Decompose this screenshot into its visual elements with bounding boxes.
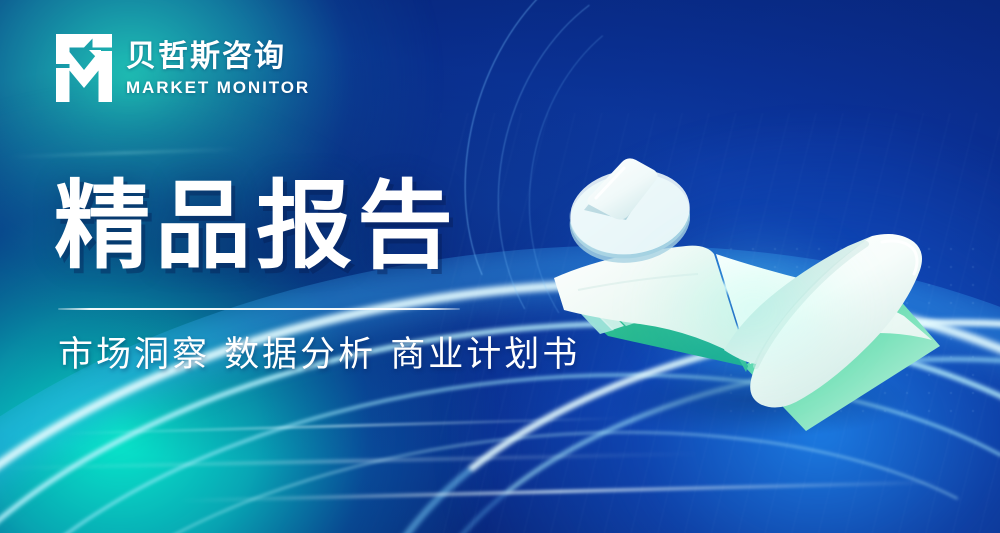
open-book-illustration [548, 150, 948, 440]
banner-subline: 市场洞察 数据分析 商业计划书 [58, 332, 580, 379]
brand-name-cn: 贝哲斯咨询 [126, 40, 310, 74]
market-monitor-logo-icon [56, 34, 112, 102]
brand-logo-text: 贝哲斯咨询 MARKET MONITOR [126, 40, 310, 96]
brand-logo[interactable]: 贝哲斯咨询 MARKET MONITOR [56, 34, 310, 102]
banner-headline: 精品报告 [54, 178, 458, 274]
brand-name-en: MARKET MONITOR [126, 79, 310, 96]
promo-banner: 贝哲斯咨询 MARKET MONITOR 精品报告 市场洞察 数据分析 商业计划… [0, 0, 1000, 533]
headline-divider [58, 308, 460, 310]
